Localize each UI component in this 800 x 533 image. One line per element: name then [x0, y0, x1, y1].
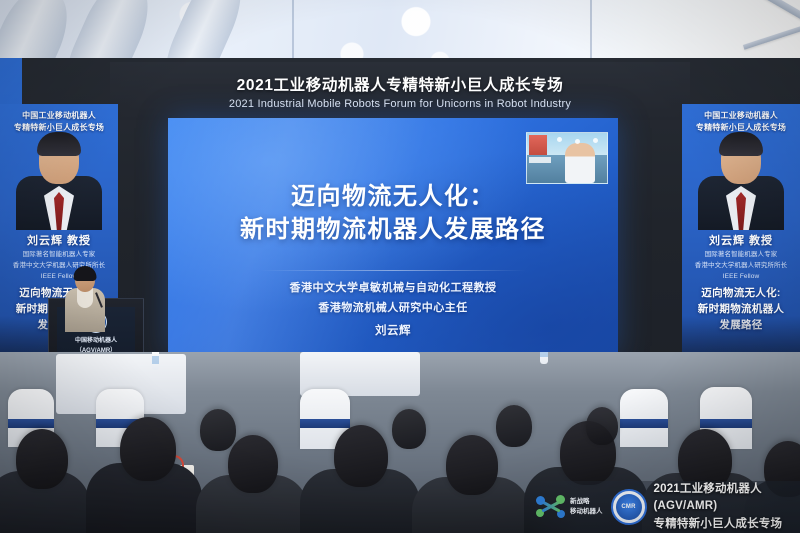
audience-head: [334, 425, 388, 487]
alliance-name-line-1: 新战略: [570, 497, 603, 507]
topic-line-1: 迈向物流无人化:: [682, 286, 800, 302]
video-remote-speaker: [565, 143, 595, 183]
podium-line-1: 中国移动机器人: [75, 337, 117, 347]
video-light-dot: [593, 138, 598, 143]
credential-line-1: 国际著名智能机器人专家: [682, 249, 800, 260]
audience-head: [16, 429, 68, 489]
portrait-hair: [719, 132, 763, 156]
right-panel-header: 中国工业移动机器人 专精特新小巨人成长专场: [682, 110, 800, 134]
audience-head: [392, 409, 426, 449]
audience-head: [586, 407, 618, 445]
video-conference-inset: [526, 132, 608, 184]
tent-beam: [743, 23, 800, 49]
slide-divider: [260, 270, 526, 271]
left-panel-speaker-name: 刘云辉 教授: [0, 232, 118, 248]
left-speaker-portrait: [13, 132, 105, 230]
right-panel-header-line-1: 中国工业移动机器人: [682, 110, 800, 122]
left-panel-header: 中国工业移动机器人 专精特新小巨人成长专场: [0, 110, 118, 134]
cmr-seal-label: CMR: [616, 494, 642, 520]
bottom-banner-line-2: 专精特新小巨人成长专场: [654, 516, 800, 533]
credential-line-1: 国际著名智能机器人专家: [0, 249, 118, 260]
presentation-screen: 迈向物流无人化： 新时期物流机器人发展路径 香港中文大学卓敏机械与自动化工程教授…: [168, 118, 618, 356]
host-at-podium: [62, 268, 108, 330]
right-panel-credentials: 国际著名智能机器人专家 香港中文大学机器人研究所所长 IEEE Fellow: [682, 249, 800, 283]
event-title-chinese: 2021工业移动机器人专精特新小巨人成长专场: [237, 73, 564, 95]
audience-head: [446, 435, 498, 495]
bottom-banner-text: 2021工业移动机器人(AGV/AMR) 专精特新小巨人成长专场: [654, 481, 800, 533]
video-light-dot: [557, 137, 562, 142]
portrait-hair: [37, 132, 81, 156]
slide-title-line-2: 新时期物流机器人发展路径: [168, 213, 618, 246]
slide-subtitle-line-1: 香港中文大学卓敏机械与自动化工程教授: [168, 278, 618, 298]
audience-head: [496, 405, 532, 447]
event-title-english: 2021 Industrial Mobile Robots Forum for …: [229, 98, 571, 110]
bottom-banner-line-1: 2021工业移动机器人(AGV/AMR): [654, 481, 800, 516]
host-hair: [74, 266, 97, 281]
bottle-label: [540, 352, 548, 357]
right-panel-speaker-name: 刘云辉 教授: [682, 232, 800, 248]
slide-speaker-name: 刘云辉: [168, 321, 618, 342]
alliance-logo-text: 新战略 移动机器人: [570, 497, 603, 517]
video-light-dot: [575, 139, 580, 144]
slide-title: 迈向物流无人化： 新时期物流机器人发展路径: [168, 180, 618, 246]
slide-subtitle: 香港中文大学卓敏机械与自动化工程教授 香港物流机械人研究中心主任 刘云辉: [168, 278, 618, 342]
slide-subtitle-line-2: 香港物流机械人研究中心主任: [168, 298, 618, 318]
credential-line-2: 香港中文大学机器人研究所所长: [682, 260, 800, 271]
right-speaker-portrait: [695, 132, 787, 230]
video-overlay-badge: [529, 157, 551, 163]
right-speaker-panel: 中国工业移动机器人 专精特新小巨人成长专场 刘云辉 教授 国际著名智能机器人专家…: [682, 104, 800, 362]
cmr-seal-icon: CMR: [611, 489, 647, 525]
left-panel-header-line-1: 中国工业移动机器人: [0, 110, 118, 122]
alliance-molecule-logo-icon: [536, 494, 566, 520]
audience-head: [120, 417, 176, 481]
video-overlay-tab: [529, 135, 547, 155]
audience-head: [228, 435, 278, 493]
credential-line-3: IEEE Fellow: [682, 271, 800, 282]
bottom-logo-banner: 新战略 移动机器人 CMR 2021工业移动机器人(AGV/AMR) 专精特新小…: [528, 481, 800, 533]
water-bottle: [152, 352, 159, 370]
audience-head: [200, 409, 236, 451]
chair: [620, 389, 668, 447]
event-header-banner: 2021工业移动机器人专精特新小巨人成长专场 2021 Industrial M…: [110, 62, 690, 120]
slide-title-line-1: 迈向物流无人化：: [168, 180, 618, 213]
water-bottle: [540, 352, 548, 364]
conference-photo: 2021工业移动机器人专精特新小巨人成长专场 2021 Industrial M…: [0, 0, 800, 533]
bottle-label: [152, 356, 159, 364]
alliance-name-line-2: 移动机器人: [570, 507, 603, 517]
